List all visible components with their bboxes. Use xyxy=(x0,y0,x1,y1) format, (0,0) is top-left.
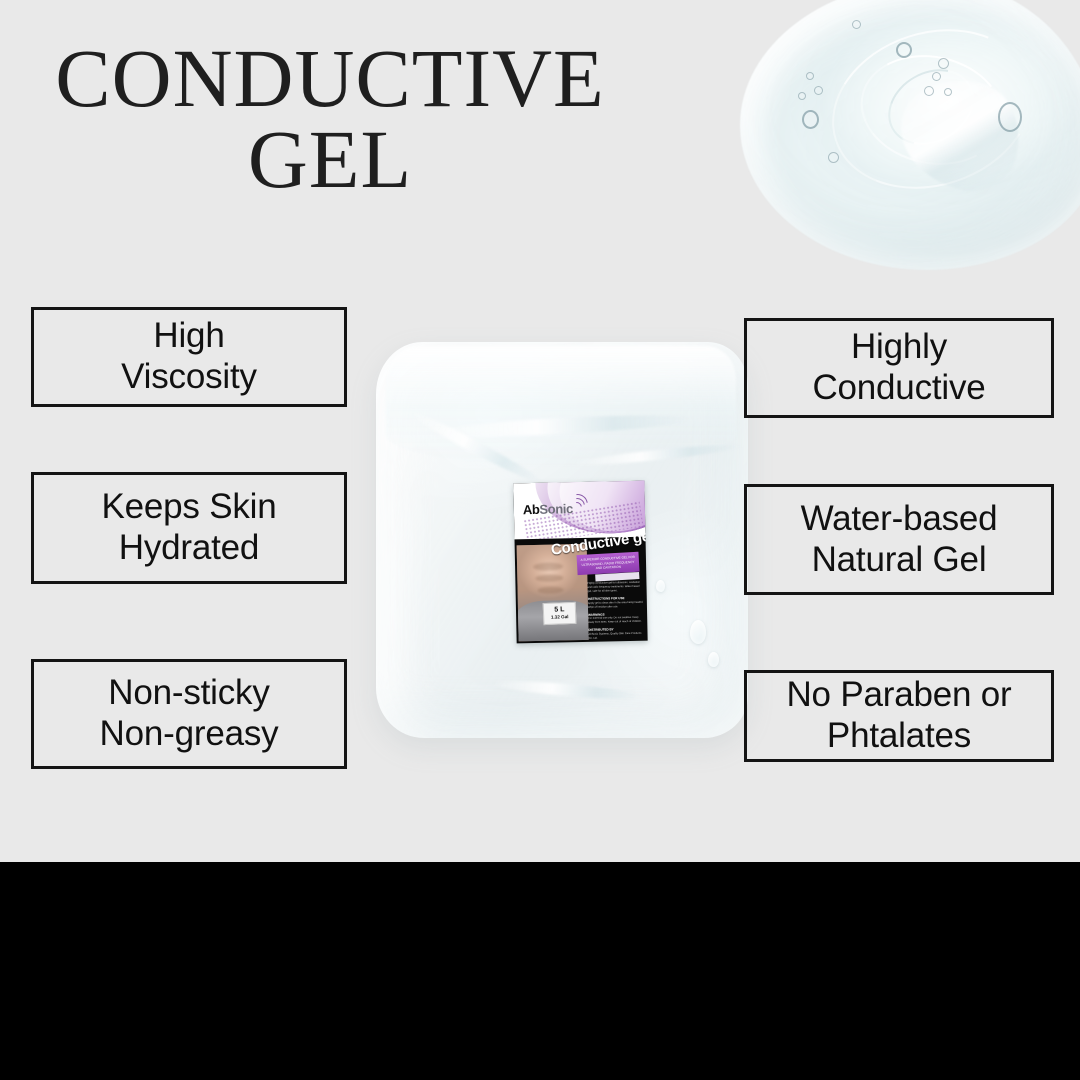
feature-box-water-based: Water-based Natural Gel xyxy=(744,484,1054,595)
feature-box-high-viscosity: High Viscosity xyxy=(31,307,347,407)
volume-secondary: 1.32 Gal xyxy=(551,615,569,620)
volume-primary: 5 L xyxy=(554,606,564,613)
gel-droplet xyxy=(656,580,665,592)
label-body-text: Highly conductive gel for ultrasonic, ca… xyxy=(587,581,644,640)
trust-badge-bar: CRUELTY FREE xyxy=(0,862,1080,1080)
gel-bubble xyxy=(924,86,934,96)
feature-box-no-paraben: No Paraben or Phtalates xyxy=(744,670,1054,762)
feature-box-highly-conductive: Highly Conductive xyxy=(744,318,1054,418)
feature-label: Highly Conductive xyxy=(812,327,985,409)
gel-bubble xyxy=(806,72,814,80)
gel-droplet xyxy=(708,652,719,667)
label-instructions-text: Apply gel to clean skin in the area bein… xyxy=(588,600,643,608)
label-body-copy: Highly conductive gel for ultrasonic, ca… xyxy=(587,581,640,593)
product-label: AbSonic Conductive gel A SUPERIOR CONDUC… xyxy=(513,481,647,644)
volume-badge: 5 L 1.32 Gal xyxy=(543,602,577,625)
gel-bubble xyxy=(944,88,952,96)
gel-swirl xyxy=(811,4,1053,214)
gel-bubble xyxy=(814,86,823,95)
photo-shading xyxy=(533,562,563,571)
gel-bubble xyxy=(802,110,819,129)
brand-logo: AbSonic xyxy=(523,502,573,516)
feature-label: High Viscosity xyxy=(121,316,257,398)
gel-bubble xyxy=(998,102,1022,132)
gel-swirl xyxy=(875,54,988,160)
feature-label: Water-based Natural Gel xyxy=(801,499,998,581)
photo-shading xyxy=(538,586,564,594)
gel-swirl xyxy=(850,42,1013,178)
product-image: AbSonic Conductive gel A SUPERIOR CONDUC… xyxy=(372,332,754,744)
brand-name-primary: Ab xyxy=(523,502,540,517)
gel-bubble xyxy=(852,20,861,29)
feature-box-keeps-skin-hydrated: Keeps Skin Hydrated xyxy=(31,472,347,584)
feature-box-non-sticky: Non-sticky Non-greasy xyxy=(31,659,347,769)
gel-droplet xyxy=(690,620,706,644)
gel-bubble xyxy=(828,152,839,163)
label-distributed-text: AbSonic Systems, Quality Skin Care Produ… xyxy=(588,632,641,640)
gel-blob-image xyxy=(700,0,1080,300)
sound-wave-icon xyxy=(570,494,590,510)
photo-shading xyxy=(535,574,563,582)
gel-bubble xyxy=(896,42,912,58)
gel-fold xyxy=(889,67,1032,201)
feature-label: No Paraben or Phtalates xyxy=(786,675,1011,757)
gel-bubble xyxy=(938,58,949,69)
product-infographic: CONDUCTIVE GEL AbSonic xyxy=(0,0,1080,1080)
feature-label: Keeps Skin Hydrated xyxy=(101,487,276,569)
feature-label: Non-sticky Non-greasy xyxy=(100,673,279,755)
page-title: CONDUCTIVE GEL xyxy=(30,38,630,201)
gel-blob-shape xyxy=(740,0,1080,270)
gel-bubble xyxy=(932,72,941,81)
gel-bubble xyxy=(798,92,806,100)
label-warnings-text: For external use only. Do not swallow. K… xyxy=(588,616,642,624)
